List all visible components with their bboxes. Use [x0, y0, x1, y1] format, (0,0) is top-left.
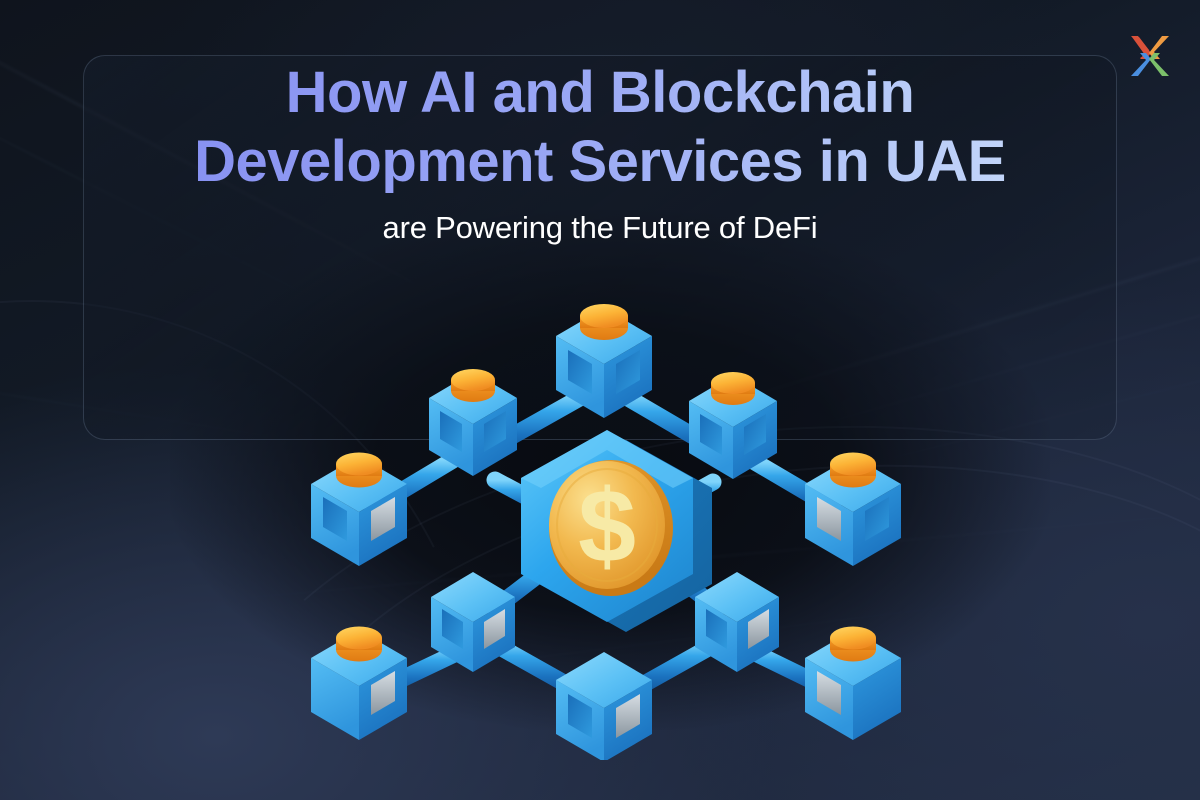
cube-node-mid-right	[805, 453, 901, 567]
center-hexagon-node: $	[521, 430, 712, 632]
cube-node-mid-left	[311, 453, 407, 567]
svg-text:$: $	[578, 469, 636, 585]
dollar-sign-icon: $	[578, 469, 636, 585]
cube-node-bottom-right	[805, 627, 901, 741]
hero-banner: How AI and Blockchain Development Servic…	[0, 0, 1200, 800]
cube-node-bottom-left	[311, 627, 407, 741]
cube-node-bottom-center	[556, 652, 652, 760]
blockchain-network-illustration: $	[255, 290, 955, 760]
brand-logo-icon[interactable]	[1122, 28, 1178, 84]
